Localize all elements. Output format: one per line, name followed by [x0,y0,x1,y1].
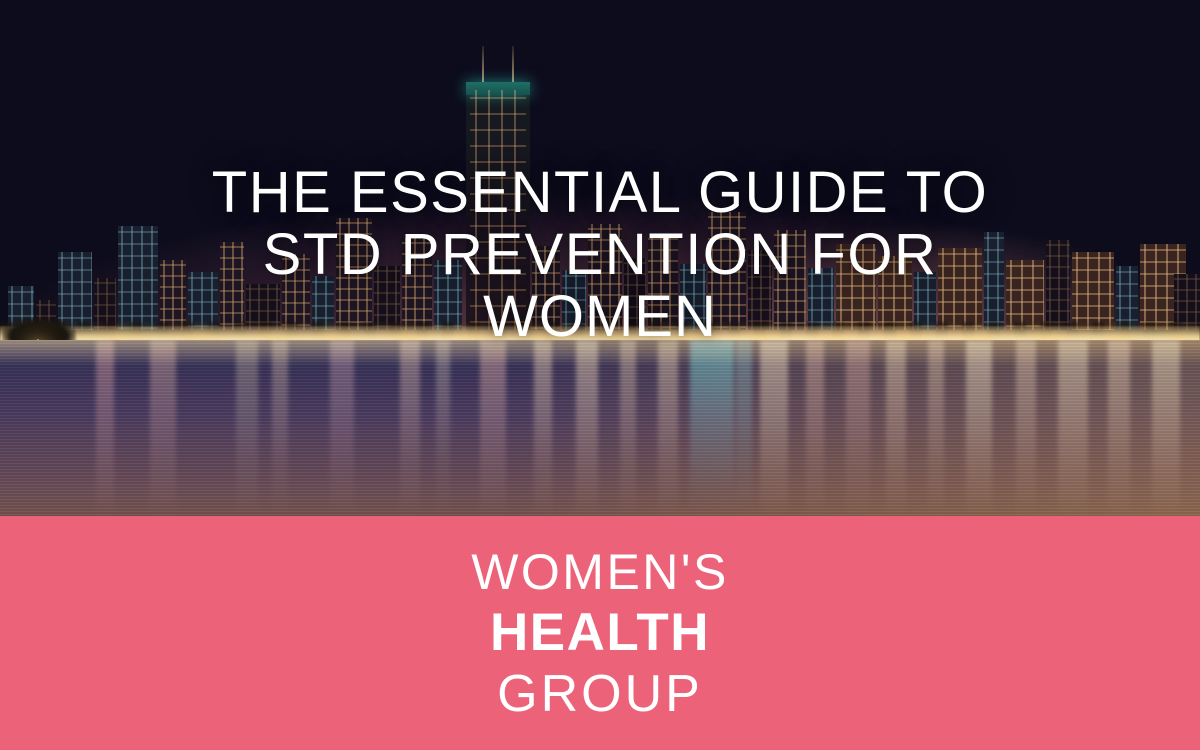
logo-line-womens: WOMEN'S [471,547,729,597]
tower-antenna-right [512,46,514,82]
womens-health-group-logo: WOMEN'S HEALTH GROUP [471,547,729,720]
article-hero-banner: THE ESSENTIAL GUIDE TO STD PREVENTION FO… [0,0,1200,750]
logo-line-health: HEALTH [471,606,729,659]
tower-crown-light [466,82,530,95]
headline-line-3: WOMEN [120,286,1080,348]
headline-line-2: STD PREVENTION FOR [120,224,1080,286]
logo-line-group: GROUP [471,668,729,720]
water-reflections [0,340,1200,516]
headline-line-1: THE ESSENTIAL GUIDE TO [120,162,1080,224]
banner-headline: THE ESSENTIAL GUIDE TO STD PREVENTION FO… [0,162,1200,348]
tower-antenna-left [482,46,484,82]
brand-footer-bar: WOMEN'S HEALTH GROUP [0,516,1200,750]
